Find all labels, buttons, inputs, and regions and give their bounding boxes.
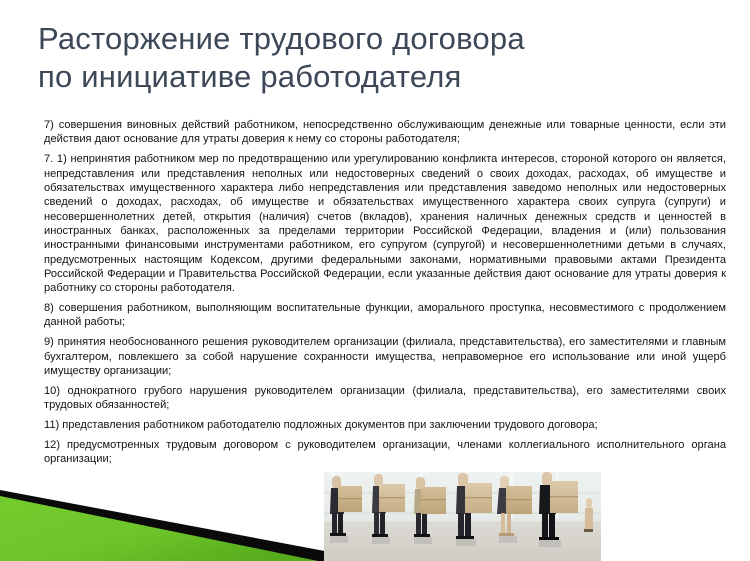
- photo-illustration: [324, 472, 601, 561]
- green-wedge: [0, 496, 318, 561]
- list-item: 8) совершения работником, выполняющим во…: [44, 301, 726, 330]
- list-item: 7. 1) непринятия работником мер по предо…: [44, 152, 726, 295]
- list-item: 9) принятия необоснованного решения руко…: [44, 335, 726, 378]
- list-item: 7) совершения виновных действий работник…: [44, 118, 726, 147]
- slide-canvas: Расторжение трудового договора по инициа…: [0, 0, 750, 561]
- pale-green-wedge: [0, 492, 330, 561]
- diagonal-band-shape: [0, 466, 330, 561]
- body-text-block: 7) совершения виновных действий работник…: [44, 118, 726, 467]
- decorative-corner-graphic: [0, 466, 330, 561]
- list-item: 11) представления работником работодател…: [44, 418, 726, 432]
- list-item: 10) однократного грубого нарушения руков…: [44, 384, 726, 413]
- black-stripe: [0, 490, 330, 561]
- page-title: Расторжение трудового договора по инициа…: [38, 20, 698, 96]
- list-item: 12) предусмотренных трудовым договором с…: [44, 438, 726, 467]
- photo-people-with-boxes: [324, 472, 601, 561]
